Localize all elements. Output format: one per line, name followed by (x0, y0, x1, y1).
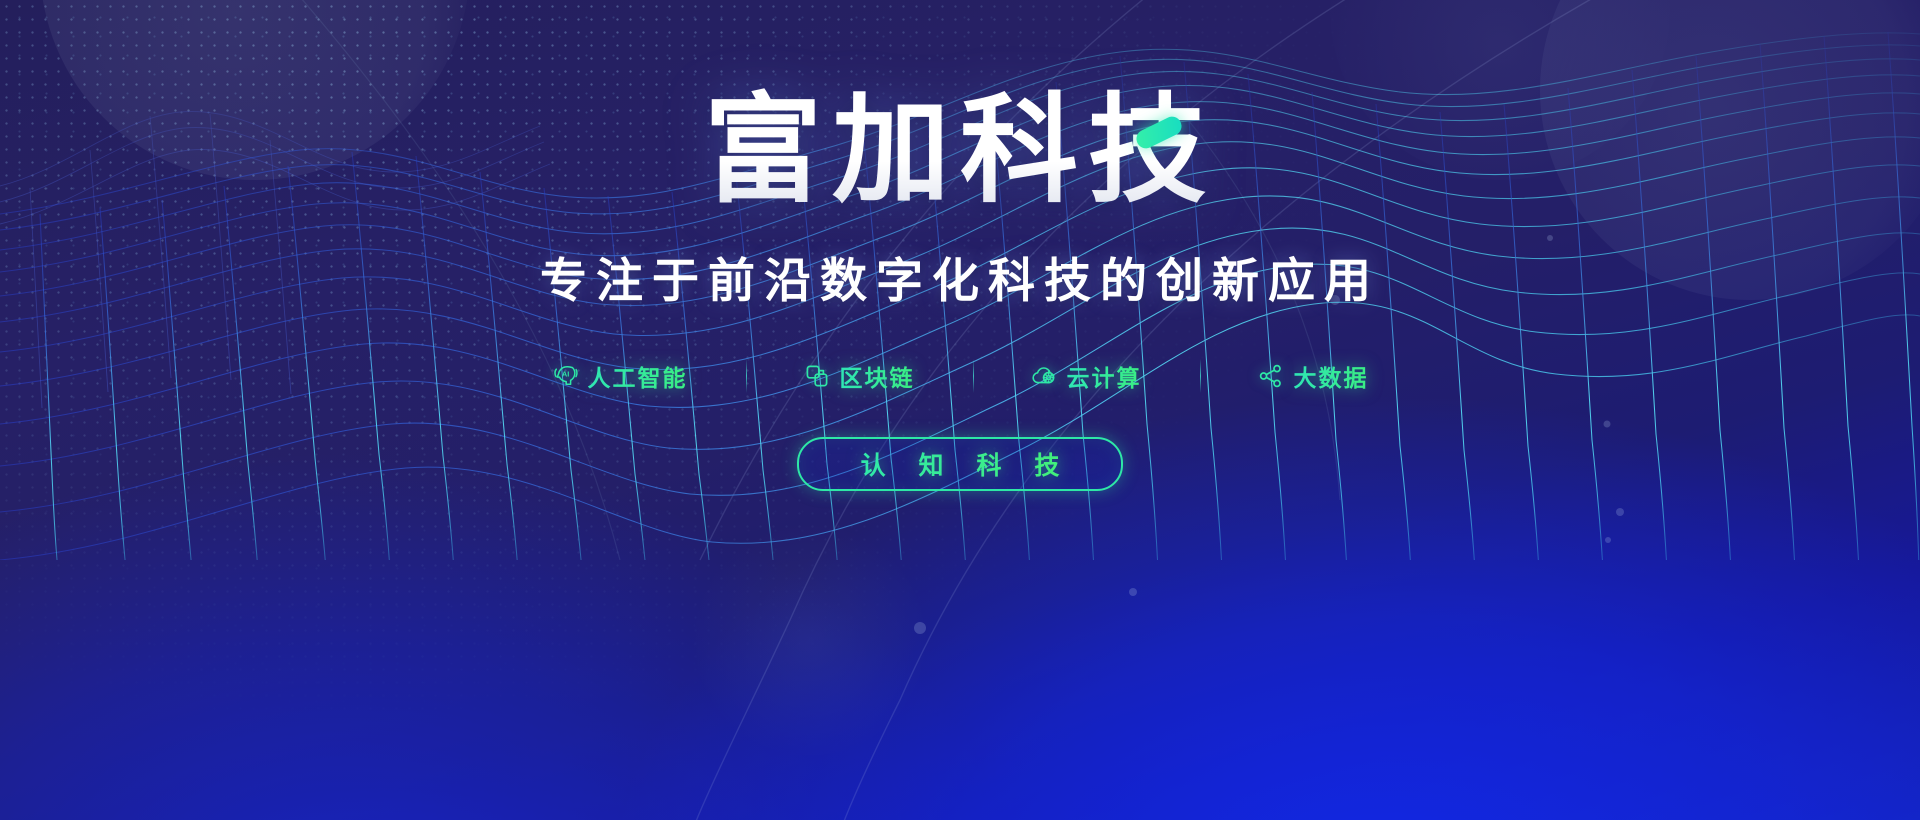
feature-label-bigdata: 大数据 (1294, 359, 1369, 393)
hero-content: 富加科技 专注于前沿数字化科技的创新应用 AI 人工智能 (0, 0, 1920, 820)
cloud-gear-icon (1031, 363, 1057, 389)
feature-item-blockchain[interactable]: 区块链 (746, 359, 973, 393)
share-network-icon (1258, 363, 1284, 389)
ai-head-icon: AI (552, 363, 578, 389)
feature-label-blockchain: 区块链 (840, 359, 915, 393)
cta-button[interactable]: 认 知 科 技 (797, 437, 1123, 491)
hero-banner: 富加科技 专注于前沿数字化科技的创新应用 AI 人工智能 (0, 0, 1920, 820)
feature-label-cloud: 云计算 (1067, 359, 1142, 393)
cta-button-label: 认 知 科 技 (848, 446, 1073, 482)
blockchain-blocks-icon (804, 363, 830, 389)
feature-label-ai: 人工智能 (588, 359, 688, 393)
logo-wordmark: 富加科技 (704, 86, 1216, 216)
feature-list: AI 人工智能 区块链 (494, 359, 1427, 393)
feature-item-ai[interactable]: AI 人工智能 (494, 359, 746, 393)
feature-item-cloud[interactable]: 云计算 (973, 359, 1200, 393)
logo-text: 富加科技 (704, 85, 1216, 217)
feature-item-bigdata[interactable]: 大数据 (1200, 359, 1427, 393)
hero-subtitle: 专注于前沿数字化科技的创新应用 (540, 242, 1380, 311)
svg-text:AI: AI (561, 369, 568, 378)
